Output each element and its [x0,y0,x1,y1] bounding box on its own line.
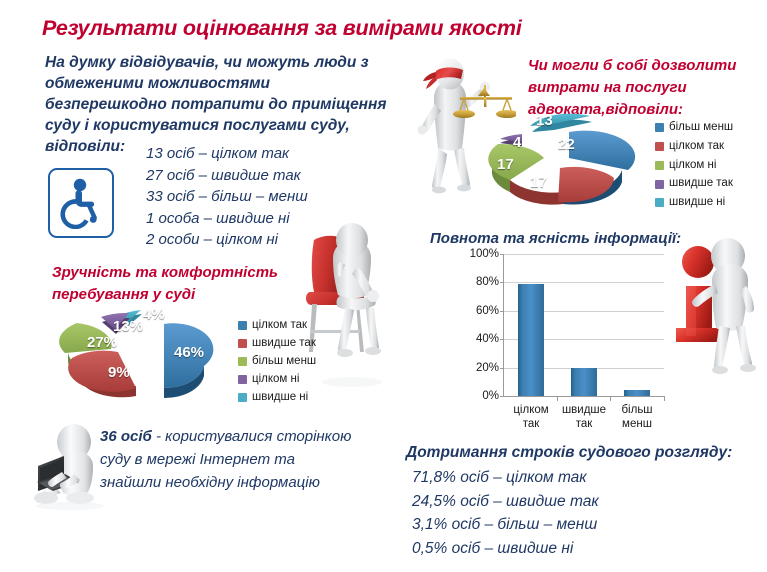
list-item: 33 осіб – більш – менш [146,186,406,208]
legend-label: більш менш [252,354,316,370]
legend-item: швидше так [238,336,316,352]
pie-chart-comfort: 46% 9% 27% 13% 4% [58,308,238,408]
terms-heading: Дотримання строків судового розгляду: [406,442,756,463]
wheelchair-icon [48,168,114,238]
completeness-chart-title: Повнота та ясність інформації: [430,228,710,249]
x-axis-tick-2: більш менш [621,403,652,431]
x-tick-line: так [562,417,606,431]
internet-usage-text: 36 осіб - користувалися сторінкою суду в… [100,425,400,494]
x-tick-line: менш [621,417,652,431]
legend-label: швидше ні [252,390,308,406]
legend-swatch-icon [655,198,664,207]
bar-1 [571,368,597,396]
y-axis-tick: 60% [476,305,499,317]
info-person-figure-icon [672,228,767,403]
x-axis-tick-1: швидше так [562,403,606,431]
bar-chart-completeness: 100% 80% 60% 40% 20% 0% цілком так швидш… [455,248,670,433]
y-axis-tick: 40% [476,333,499,345]
legend-swatch-icon [655,180,664,189]
legend-label: швидше так [669,176,733,192]
y-axis-tick: 100% [470,248,499,260]
legend-label: цілком так [252,318,307,334]
legend-swatch-icon [655,142,664,151]
pie-lawyer-label-2: 17 [497,156,514,173]
legend-swatch-icon [238,339,247,348]
y-axis-tick: 20% [476,362,499,374]
slide-canvas: Результати оцінювання за вимірами якості… [0,0,767,572]
y-axis-tick: 80% [476,276,499,288]
legend-swatch-icon [238,375,247,384]
legend-item: швидше ні [238,390,316,406]
legend-label: цілком так [669,139,724,155]
legend-item: цілком так [238,318,316,334]
pie-lawyer-label-4: 13 [536,112,553,129]
x-tick-line: швидше [562,403,606,417]
pie-lawyer-label-3: 4 [513,134,521,151]
legend-item: більш менш [238,354,316,370]
list-item: 27 осіб – швидше так [146,165,406,187]
accessibility-heading-line-1: На думку відвідувачів, чи можуть люди з [45,52,415,73]
pie-lawyer-label-0: 22 [558,136,575,153]
bar-chart-plot-area: 100% 80% 60% 40% 20% 0% цілком так швидш… [503,254,664,397]
legend-swatch-icon [655,123,664,132]
legend-swatch-icon [238,321,247,330]
page-title: Результати оцінювання за вимірами якості [42,16,522,41]
list-item: 0,5% осіб – швидше ні [412,537,752,561]
comfort-heading-line-1: Зручність та комфортність [52,262,302,284]
internet-line-3: знайшли необхідну інформацію [100,471,400,494]
legend-item: швидше ні [655,195,733,211]
list-item: 13 осіб – цілком так [146,143,406,165]
accessibility-question-heading: На думку відвідувачів, чи можуть люди з … [45,52,415,157]
internet-count: 36 осіб [100,428,152,445]
terms-answer-list: 71,8% осіб – цілком так 24,5% осіб – шви… [412,466,752,560]
legend-item: більш менш [655,120,733,136]
x-tick-line: цілком [513,403,548,417]
list-item: 24,5% осіб – швидше так [412,490,752,514]
lawyer-heading-line-1: Чи могли б собі дозволити [528,55,767,77]
accessibility-heading-line-2: обмеженими можливостями [45,73,415,94]
bar-0 [518,284,544,396]
pie-lawyer-legend: більш менш цілком так цілком ні швидше т… [655,120,733,214]
internet-line-1: 36 осіб - користувалися сторінкою [100,425,400,448]
comfort-question-heading: Зручність та комфортність перебування у … [52,262,302,306]
x-tick-line: більш [621,403,652,417]
legend-label: швидше ні [669,195,725,211]
pie-comfort-label-3: 13% [113,318,143,335]
list-item: 71,8% осіб – цілком так [412,466,752,490]
legend-swatch-icon [238,357,247,366]
comfort-heading-line-2: перебування у суді [52,284,302,306]
pie-comfort-label-0: 46% [174,344,204,361]
pie-chart-lawyer: 22 17 17 4 13 [470,108,655,216]
x-tick-line: так [513,417,548,431]
internet-line-1-rest: - користувалися сторінкою [152,428,352,445]
lawyer-heading-line-2: витрати на послуги [528,77,767,99]
list-item: 3,1% осіб – більш – менш [412,513,752,537]
legend-item: цілком так [655,139,733,155]
legend-label: цілком ні [669,158,716,174]
pie-comfort-label-1: 9% [108,364,130,381]
legend-label: більш менш [669,120,733,136]
legend-label: швидше так [252,336,316,352]
gridline [504,254,664,255]
pie-lawyer-label-1: 17 [530,174,547,191]
accessibility-heading-line-4: суду і користуватися послугами суду, [45,115,415,136]
legend-item: цілком ні [238,372,316,388]
accessibility-heading-line-3: безперешкодно потрапити до приміщення [45,94,415,115]
legend-label: цілком ні [252,372,299,388]
legend-swatch-icon [238,393,247,402]
internet-line-2: суду в мережі Інтернет та [100,448,400,471]
pie-comfort-legend: цілком так швидше так більш менш цілком … [238,318,316,408]
pie-comfort-label-4: 4% [143,306,165,323]
y-axis-tick: 0% [482,390,499,402]
legend-item: цілком ні [655,158,733,174]
pie-comfort-label-2: 27% [87,334,117,351]
legend-item: швидше так [655,176,733,192]
legend-swatch-icon [655,161,664,170]
x-axis-tick-0: цілком так [513,403,548,431]
bar-2 [624,390,650,396]
